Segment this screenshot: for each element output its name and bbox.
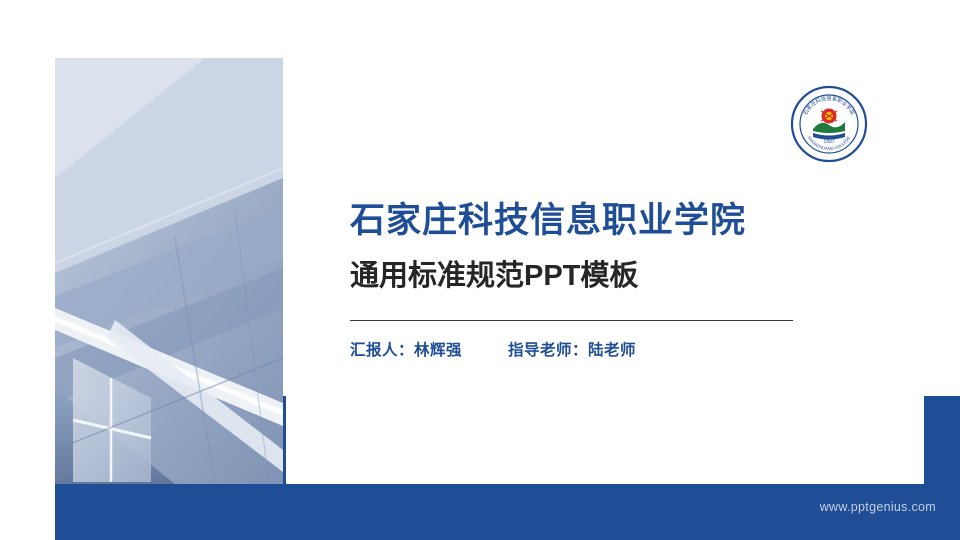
page-subtitle: 通用标准规范PPT模板 [350, 252, 638, 294]
title-divider [350, 320, 793, 321]
left-white-strip [0, 0, 55, 540]
presentation-slide: 石家庄科技信息职业学院 SHIJIAZHUANG COLLEGE 1997 石家… [0, 0, 960, 540]
architecture-photo [55, 58, 283, 484]
svg-text:1997: 1997 [823, 139, 834, 145]
page-title: 石家庄科技信息职业学院 [350, 192, 746, 243]
school-emblem-logo: 石家庄科技信息职业学院 SHIJIAZHUANG COLLEGE 1997 [790, 85, 868, 163]
presenter-label: 汇报人：林辉强 [350, 338, 462, 360]
advisor-label: 指导老师：陆老师 [508, 338, 636, 360]
author-meta: 汇报人：林辉强 指导老师：陆老师 [350, 338, 636, 360]
footer-website-url: www.pptgenius.com [820, 500, 936, 514]
